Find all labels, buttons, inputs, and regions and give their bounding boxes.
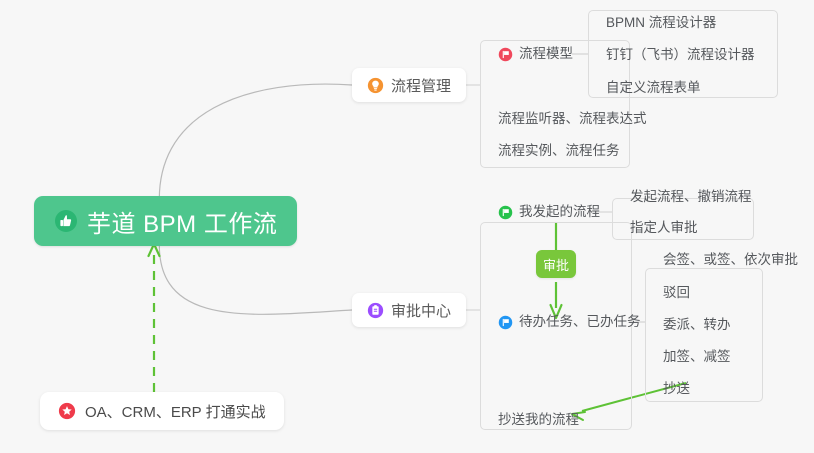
node-todo-done-task-label: 待办任务、已办任务: [519, 307, 641, 337]
branch-process-management-label: 流程管理: [391, 75, 451, 96]
flag-icon: [498, 205, 513, 220]
node-process-instance-task-label: 流程实例、流程任务: [498, 136, 620, 166]
node-process-model[interactable]: 流程模型: [490, 39, 581, 69]
thumbs-up-icon: [54, 209, 78, 233]
node-start-cancel-process-label: 发起流程、撤销流程: [630, 182, 752, 212]
node-countersign-orsign-sequential-label: 会签、或签、依次审批: [663, 245, 798, 275]
branch-approval-center[interactable]: 审批中心: [352, 293, 466, 327]
node-add-remove-sign-label: 加签、减签: [663, 342, 731, 372]
star-icon: [58, 402, 76, 420]
node-dingtalk-feishu-designer-label: 钉钉（飞书）流程设计器: [606, 40, 755, 70]
clipboard-icon: [367, 302, 384, 319]
root-node[interactable]: 芋道 BPM 工作流: [34, 196, 297, 246]
node-add-remove-sign[interactable]: 加签、减签: [655, 342, 739, 372]
node-cc-to-me-process-label: 抄送我的流程: [498, 405, 579, 435]
node-custom-process-form[interactable]: 自定义流程表单: [598, 73, 709, 103]
approval-badge-label: 审批: [543, 255, 569, 274]
approval-badge: 审批: [536, 250, 576, 278]
root-node-label: 芋道 BPM 工作流: [87, 204, 277, 239]
branch-approval-center-label: 审批中心: [391, 300, 451, 321]
node-start-cancel-process[interactable]: 发起流程、撤销流程: [622, 182, 760, 212]
node-bpmn-designer-label: BPMN 流程设计器: [606, 8, 716, 38]
node-process-listener-expression-label: 流程监听器、流程表达式: [498, 104, 647, 134]
highlight-card-label: OA、CRM、ERP 打通实战: [85, 401, 266, 422]
node-dingtalk-feishu-designer[interactable]: 钉钉（飞书）流程设计器: [598, 40, 763, 70]
node-reject[interactable]: 驳回: [655, 278, 698, 308]
flag-icon: [498, 315, 513, 330]
flag-icon: [498, 47, 513, 62]
node-process-listener-expression[interactable]: 流程监听器、流程表达式: [490, 104, 655, 134]
node-delegate-transfer-label: 委派、转办: [663, 310, 731, 340]
node-process-instance-task[interactable]: 流程实例、流程任务: [490, 136, 628, 166]
node-my-started-process-label: 我发起的流程: [519, 197, 600, 227]
dashed-arrow-highlight-to-root: [149, 244, 160, 392]
node-cc[interactable]: 抄送: [655, 374, 698, 404]
node-cc-label: 抄送: [663, 374, 690, 404]
node-process-model-label: 流程模型: [519, 39, 573, 69]
node-assignee-approval-label: 指定人审批: [630, 213, 698, 243]
lightbulb-icon: [367, 77, 384, 94]
branch-process-management[interactable]: 流程管理: [352, 68, 466, 102]
highlight-card-integration[interactable]: OA、CRM、ERP 打通实战: [40, 392, 284, 430]
node-my-started-process[interactable]: 我发起的流程: [490, 197, 608, 227]
node-bpmn-designer[interactable]: BPMN 流程设计器: [598, 8, 724, 38]
node-delegate-transfer[interactable]: 委派、转办: [655, 310, 739, 340]
node-countersign-orsign-sequential[interactable]: 会签、或签、依次审批: [655, 245, 806, 275]
node-todo-done-task[interactable]: 待办任务、已办任务: [490, 307, 649, 337]
mindmap-canvas: 芋道 BPM 工作流 流程管理 流程模型 BPMN 流程设计器 钉钉（飞书）流程: [0, 0, 814, 453]
node-assignee-approval[interactable]: 指定人审批: [622, 213, 706, 243]
node-reject-label: 驳回: [663, 278, 690, 308]
node-cc-to-me-process[interactable]: 抄送我的流程: [490, 405, 587, 435]
node-custom-process-form-label: 自定义流程表单: [606, 73, 701, 103]
link-root-to-process-management: [159, 84, 352, 213]
